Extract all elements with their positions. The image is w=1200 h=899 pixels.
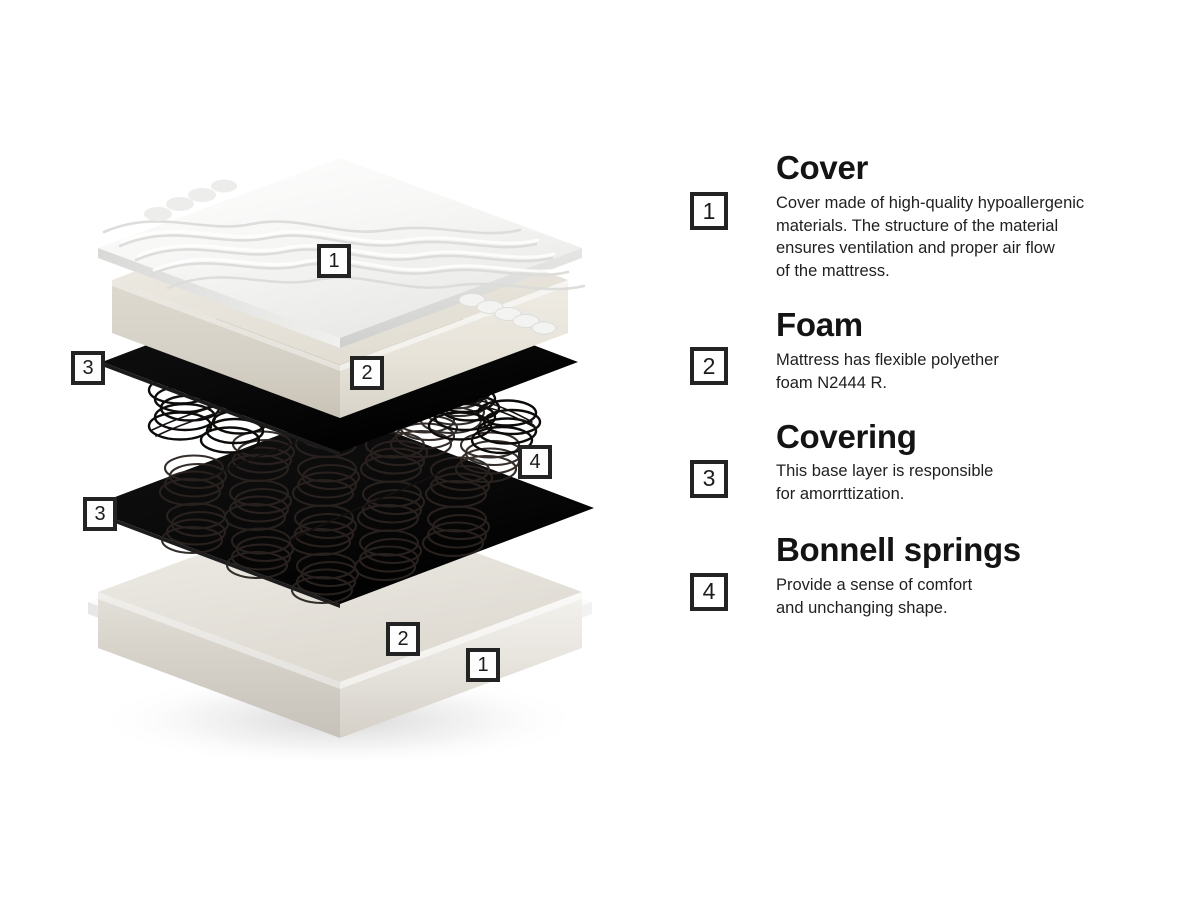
legend-body: Cover Cover made of high-quality hypoall… — [776, 150, 1160, 283]
legend-title-covering: Covering — [776, 419, 1160, 456]
legend-desc-line: materials. The structure of the material — [776, 215, 1156, 238]
legend-title-cover: Cover — [776, 150, 1160, 187]
legend-description-bonnell-springs: Provide a sense of comfort and unchangin… — [776, 574, 1156, 620]
legend-body: Foam Mattress has flexible polyether foa… — [776, 307, 1160, 394]
legend-desc-line: Mattress has flexible polyether — [776, 349, 1156, 372]
legend-title-bonnell-springs: Bonnell springs — [776, 532, 1160, 569]
legend-entry-foam: 2 Foam Mattress has flexible polyether f… — [690, 307, 1160, 394]
legend-number-badge-3: 3 — [690, 460, 728, 498]
legend-number-badge-2: 2 — [690, 347, 728, 385]
exploded-mattress-diagram: 1 2 3 4 3 2 1 — [40, 140, 640, 760]
legend-desc-line: Cover made of high-quality hypoallergeni… — [776, 192, 1156, 215]
diagram-callout-1[interactable]: 1 — [317, 244, 351, 278]
legend-desc-line: for amorrttization. — [776, 483, 1156, 506]
legend-entry-cover: 1 Cover Cover made of high-quality hypoa… — [690, 150, 1160, 283]
diagram-callout-4[interactable]: 4 — [518, 445, 552, 479]
legend-desc-line: Provide a sense of comfort — [776, 574, 1156, 597]
legend-desc-line: This base layer is responsible — [776, 460, 1156, 483]
diagram-callout-2[interactable]: 2 — [350, 356, 384, 390]
legend-desc-line: foam N2444 R. — [776, 372, 1156, 395]
legend-body: Covering This base layer is responsible … — [776, 419, 1160, 506]
legend-description-foam: Mattress has flexible polyether foam N24… — [776, 349, 1156, 395]
legend-desc-line: of the mattress. — [776, 260, 1156, 283]
legend-desc-line: and unchanging shape. — [776, 597, 1156, 620]
legend-entry-bonnell-springs: 4 Bonnell springs Provide a sense of com… — [690, 532, 1160, 619]
diagram-callout-7[interactable]: 1 — [466, 648, 500, 682]
legend-number-badge-1: 1 — [690, 192, 728, 230]
legend-description-cover: Cover made of high-quality hypoallergeni… — [776, 192, 1156, 283]
infographic-page: 1 2 3 4 3 2 1 1 Cover Cover made of high… — [0, 0, 1200, 899]
layer-legend: 1 Cover Cover made of high-quality hypoa… — [690, 150, 1160, 619]
legend-desc-line: ensures ventilation and proper air flow — [776, 237, 1156, 260]
diagram-callout-5[interactable]: 3 — [83, 497, 117, 531]
diagram-callout-3[interactable]: 3 — [71, 351, 105, 385]
legend-number-badge-4: 4 — [690, 573, 728, 611]
legend-body: Bonnell springs Provide a sense of comfo… — [776, 532, 1160, 619]
diagram-callout-6[interactable]: 2 — [386, 622, 420, 656]
legend-description-covering: This base layer is responsible for amorr… — [776, 460, 1156, 506]
legend-title-foam: Foam — [776, 307, 1160, 344]
legend-entry-covering: 3 Covering This base layer is responsibl… — [690, 419, 1160, 506]
